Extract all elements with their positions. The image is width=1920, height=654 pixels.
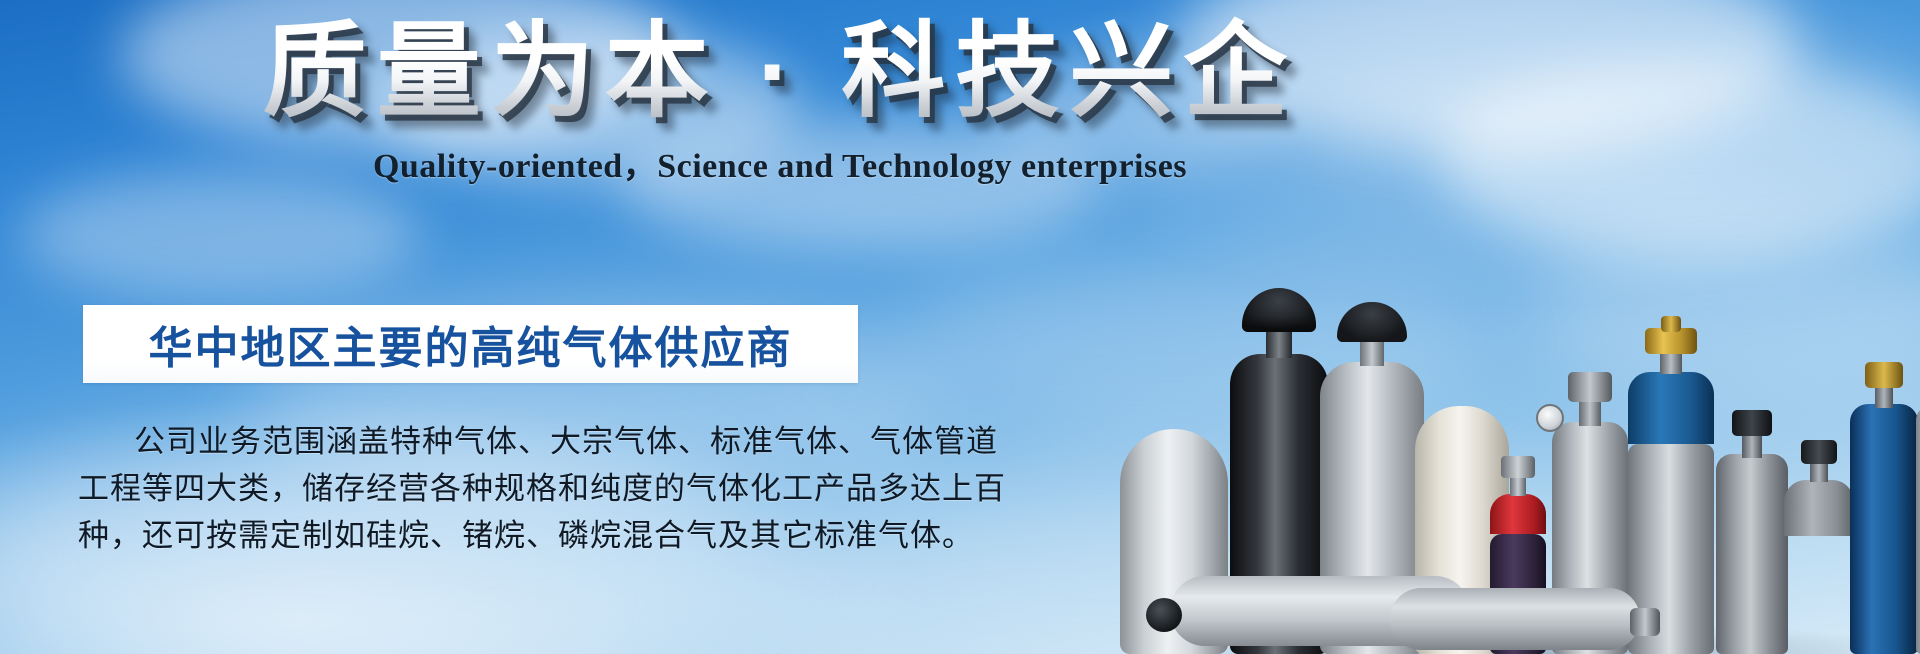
- paragraph-line: 种，还可按需定制如硅烷、锗烷、磷烷混合气及其它标准气体。: [78, 512, 868, 559]
- description-paragraph: 公司业务范围涵盖特种气体、大宗气体、标准气体、气体管道 工程等四大类，储存经营各…: [78, 418, 868, 559]
- paragraph-line: 工程等四大类，储存经营各种规格和纯度的气体化工产品多达上百: [78, 465, 868, 512]
- cylinder-aluminium-slim: [1916, 354, 1920, 654]
- cylinder-horizontal: [1390, 588, 1640, 650]
- tagline-box: 华中地区主要的高纯气体供应商: [83, 305, 858, 383]
- banner-subtitle: Quality-oriented，Science and Technology …: [0, 138, 1560, 187]
- paragraph-line: 公司业务范围涵盖特种气体、大宗气体、标准气体、气体管道: [78, 418, 868, 465]
- cylinder-guard-handle: [1242, 288, 1316, 332]
- hero-banner: 质量为本 · 科技兴企 Quality-oriented，Science and…: [0, 0, 1920, 654]
- banner-headline: 质量为本 · 科技兴企: [0, 14, 1560, 130]
- cylinder-green-shoulder: [1784, 419, 1854, 654]
- cylinder-blue-tall: [1850, 344, 1918, 654]
- pressure-gauge: [1536, 404, 1564, 432]
- cylinder-horizontal-valve: [1630, 608, 1660, 636]
- gas-cylinders-photo: [1160, 234, 1920, 654]
- cylinder-blue-teal: [1628, 319, 1714, 654]
- cloud-shape: [20, 170, 420, 300]
- cylinder-darkgrey: [1716, 384, 1788, 654]
- cylinder-guard-handle: [1337, 302, 1407, 342]
- cylinder-horizontal-valve: [1146, 598, 1182, 632]
- tagline-text: 华中地区主要的高纯气体供应商: [149, 312, 793, 376]
- headline-block: 质量为本 · 科技兴企 Quality-oriented，Science and…: [0, 14, 1560, 187]
